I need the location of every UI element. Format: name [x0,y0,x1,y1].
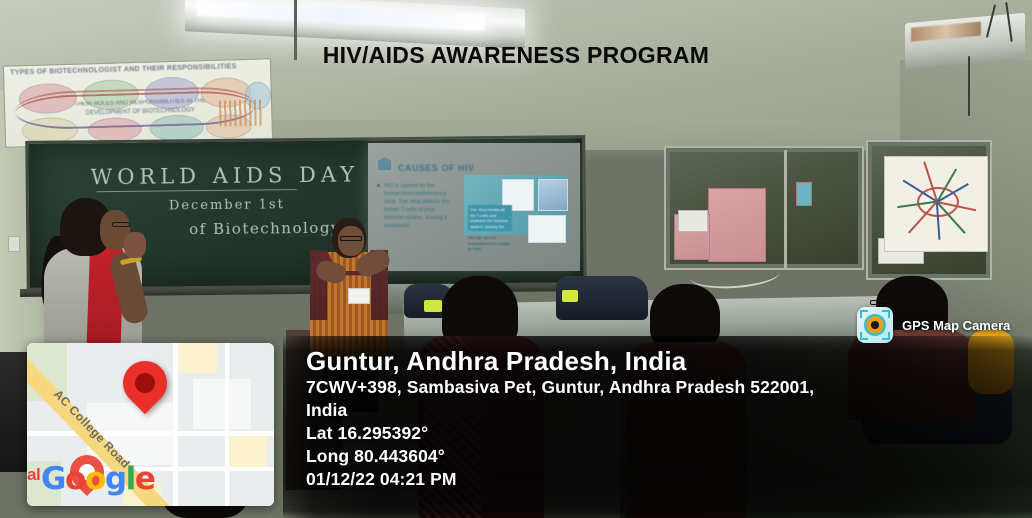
blackboard-line-1: WORLD AIDS DAY [90,162,359,189]
window-poster-teal [796,182,812,206]
google-logo-o1: o [65,461,85,497]
google-logo-e: e [135,461,155,497]
presenter-face [338,226,364,256]
window-mullion-v [784,150,787,268]
google-logo: Google [41,461,155,497]
slide-caption-2: HIV can also be transmitted from mother … [468,235,514,247]
window-poster-pink-large [708,188,766,262]
sun-diagram-poster [884,156,988,252]
map-thumbnail[interactable]: AC College Road al Google [27,343,274,506]
gps-badge-label: GPS Map Camera [902,318,1010,333]
gps-timestamp: 01/12/22 04:21 PM [306,468,1026,491]
slide-bullet-dot [377,184,380,187]
slide-bullet-label: HIV is caused by the human immunodeficie… [384,183,449,229]
blackboard-line-2: December 1st [169,197,285,213]
google-logo-g1: G [41,461,65,497]
biotechnology-chart-poster: TYPES OF BIOTECHNOLOGIST AND THEIR RESPO… [3,58,273,147]
slide-caption-1: The virus breaks all the T-cells and wea… [468,205,512,231]
map-partial-label: al [27,465,40,485]
bag-1-neon-tag [424,300,442,312]
presenter-id-badge [348,288,370,304]
map-road-white-3 [225,343,229,506]
gps-address-line-1: 7CWV+398, Sambasiva Pet, Guntur, Andhra … [306,376,1026,399]
map-block-yellow-2 [225,435,267,469]
window-poster-white [678,210,708,232]
gps-address-line-2: India [306,399,1026,422]
map-road-white-1 [173,343,178,506]
photo-canvas: TYPES OF BIOTECHNOLOGIST AND THEIR RESPO… [0,0,1032,518]
map-block-2 [193,379,251,429]
gps-map-camera-badge[interactable]: GPS Map Camera [857,307,1010,343]
window-left [664,146,864,270]
gps-latitude: Lat 16.295392° [306,422,1026,445]
map-road-white-2 [27,431,274,436]
camera-eye-lens [864,314,886,336]
blackboard-underline [97,189,297,192]
gps-longitude: Long 80.443604° [306,445,1026,468]
blackboard-line-3: of Biotechnology [189,219,341,239]
presenter-glasses [340,236,362,241]
student-3-glasses [870,300,892,305]
projector-screen: CAUSES OF HIV HIV is caused by the human… [368,143,580,271]
gps-city-line: Guntur, Andhra Pradesh, India [306,347,1026,376]
google-logo-o2: o [85,461,105,497]
poster-hatch-pattern [219,100,264,127]
gps-camera-icon [857,307,893,343]
google-logo-l: l [126,461,135,497]
hand [124,232,146,258]
slide-image-3 [528,215,566,243]
slide-virus-icon [378,157,391,170]
map-block-yellow-1 [177,343,217,373]
icon-corner-br [882,332,890,340]
student-2-hair [650,284,720,350]
slide-title: CAUSES OF HIV [398,163,475,173]
google-logo-g2: g [105,461,126,497]
glasses [112,222,130,227]
page-title: HIV/AIDS AWARENESS PROGRAM [0,42,1032,69]
gps-info-block: Guntur, Andhra Pradesh, India 7CWV+398, … [306,347,1026,492]
slide-image-2 [538,179,568,211]
slide-bullet-text: HIV is caused by the human immunodeficie… [384,183,450,231]
wall-socket [8,236,20,252]
bag-2-neon-tag [562,290,578,302]
